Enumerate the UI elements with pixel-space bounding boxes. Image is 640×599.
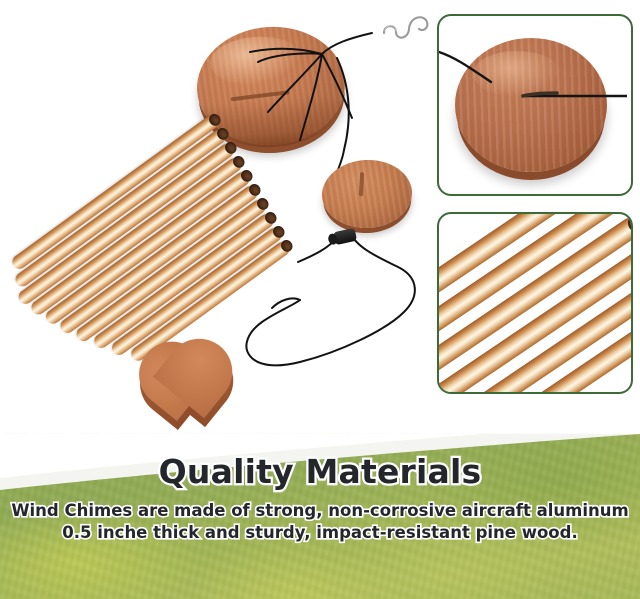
inset-wooden-disc-closeup	[437, 14, 633, 196]
banner-subline: Wind Chimes are made of strong, non-corr…	[0, 500, 640, 545]
hero-product-photo	[0, 0, 430, 440]
banner-subline-line-2: 0.5 inche thick and sturdy, impact-resis…	[0, 522, 640, 544]
product-feature-card: Quality Materials Wind Chimes are made o…	[0, 0, 640, 599]
banner-text-block: Quality Materials Wind Chimes are made o…	[0, 452, 640, 545]
banner-headline: Quality Materials	[0, 452, 640, 491]
banner-subline-line-1: Wind Chimes are made of strong, non-corr…	[0, 500, 640, 522]
heart-face	[144, 282, 280, 399]
quality-materials-banner: Quality Materials Wind Chimes are made o…	[0, 434, 640, 599]
aircraft-aluminum-tube-ends	[437, 212, 633, 394]
inset-aluminum-tubes-closeup	[437, 212, 633, 394]
wooden-heart-wind-catcher	[144, 282, 285, 411]
closeup-cord	[439, 16, 627, 190]
